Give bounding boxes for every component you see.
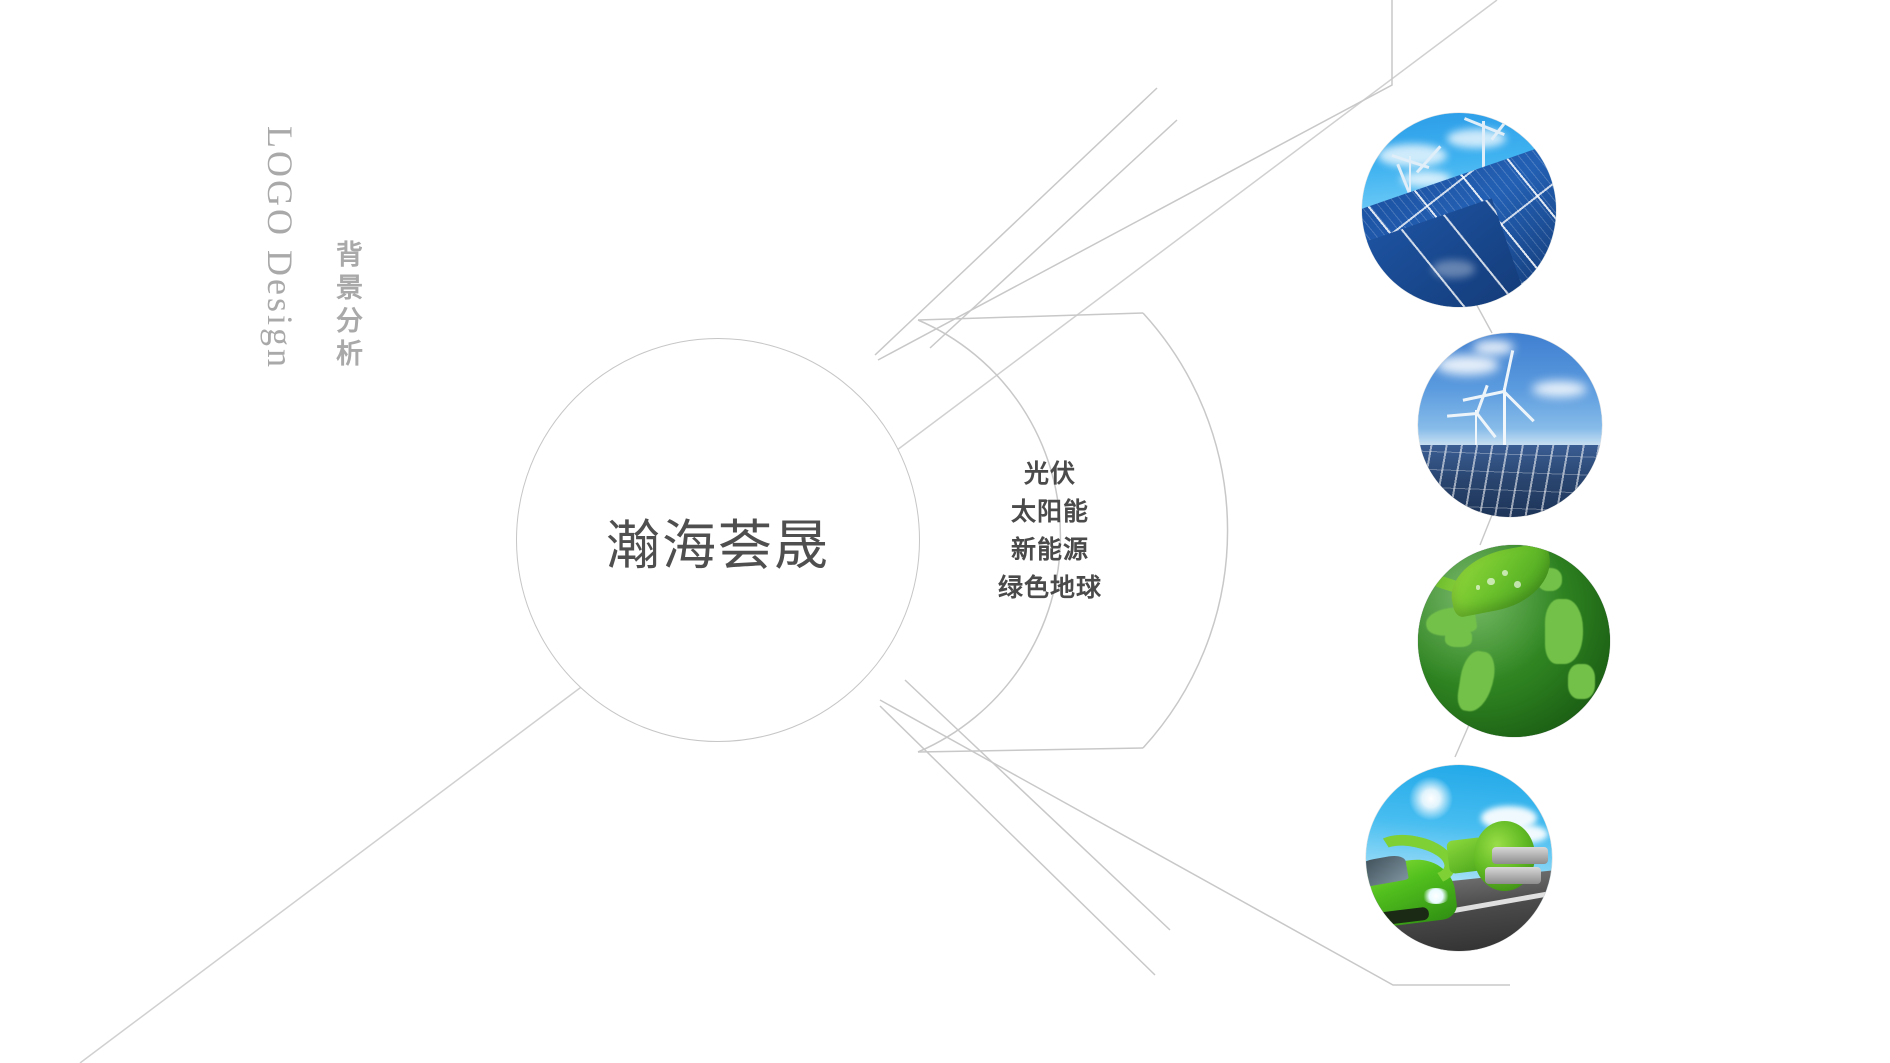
slide-canvas: LOGO Design 背景分析 瀚海荟晟 光伏 太阳能 新能源 绿色地球 <box>0 0 1890 1063</box>
section-title: 背景分析 <box>326 240 366 372</box>
keyword-item: 太阳能 <box>960 493 1140 531</box>
keyword-item: 光伏 <box>960 455 1140 493</box>
logo-design-label: LOGO Design <box>259 126 301 346</box>
keyword-list: 光伏 太阳能 新能源 绿色地球 <box>960 455 1140 607</box>
image-electric-car-plug[interactable] <box>1366 765 1552 951</box>
green-globe-scene <box>1418 545 1610 737</box>
brand-name: 瀚海荟晟 <box>606 501 830 580</box>
keyword-item: 绿色地球 <box>960 569 1140 607</box>
image-solar-panels-wind-turbines[interactable] <box>1362 113 1556 307</box>
keyword-item: 新能源 <box>960 531 1140 569</box>
image-solar-farm-horizon[interactable] <box>1418 333 1602 517</box>
solar-panels-scene <box>1362 113 1556 307</box>
solar-farm-scene <box>1418 333 1602 517</box>
electric-car-scene <box>1366 765 1552 951</box>
brand-circle[interactable]: 瀚海荟晟 <box>516 338 920 742</box>
image-green-grass-globe[interactable] <box>1418 545 1610 737</box>
